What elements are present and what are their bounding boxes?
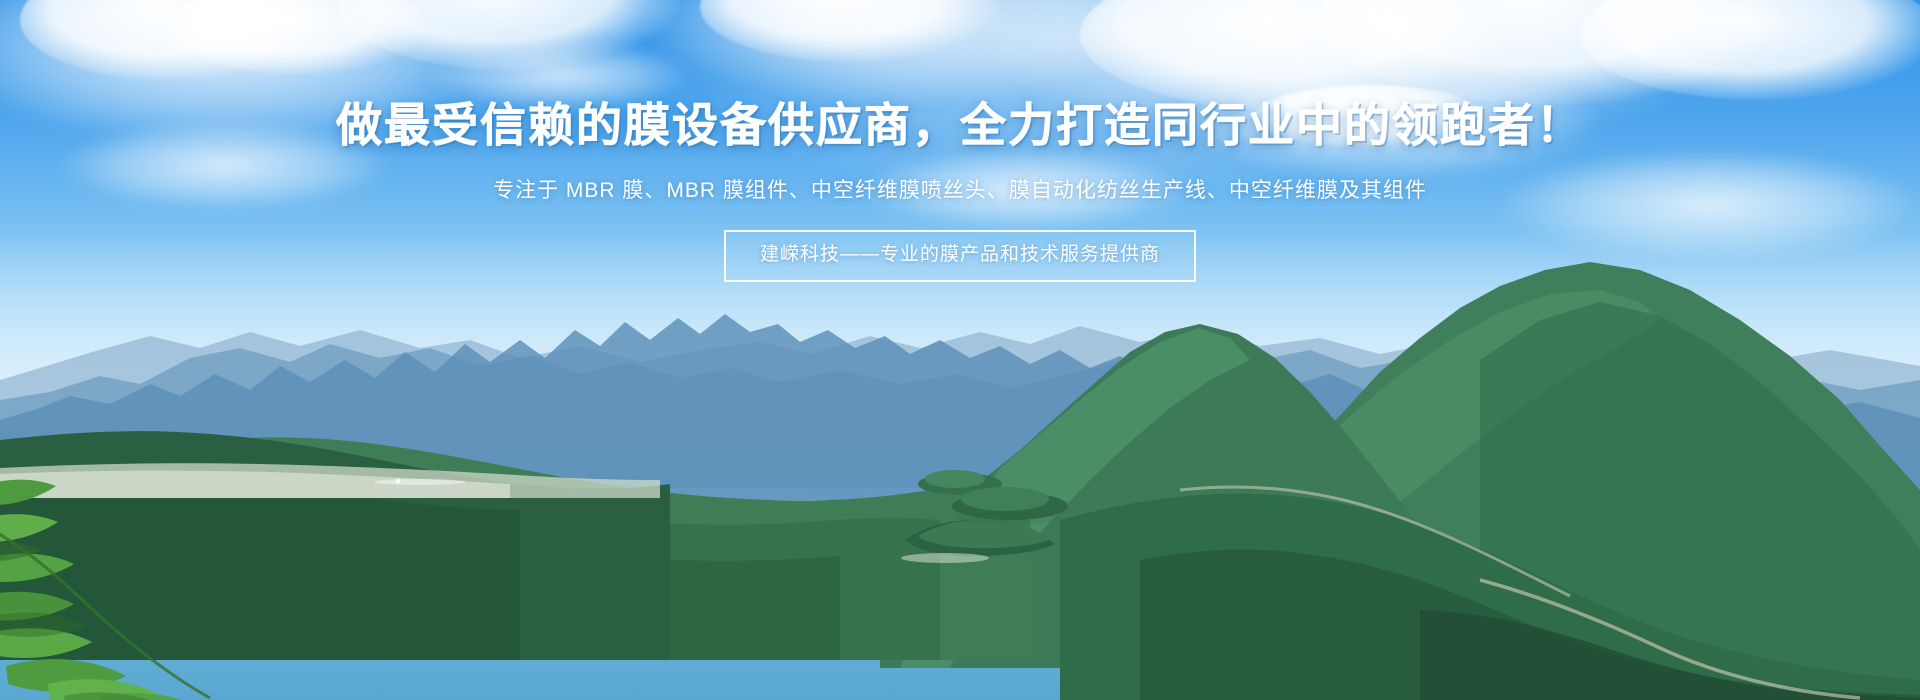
banner-subtitle: 专注于 MBR 膜、MBR 膜组件、中空纤维膜喷丝头、膜自动化纺丝生产线、中空纤… [0,151,1920,205]
lake-water [0,425,1920,700]
tagline-container: 建嵘科技——专业的膜产品和技术服务提供商 [0,230,1920,282]
hero-banner: 做最受信赖的膜设备供应商，全力打造同行业中的领跑者！ 专注于 MBR 膜、MBR… [0,0,1920,700]
banner-tagline: 建嵘科技——专业的膜产品和技术服务提供商 [724,230,1196,282]
water-shimmer [0,425,1920,700]
banner-text-block: 做最受信赖的膜设备供应商，全力打造同行业中的领跑者！ 专注于 MBR 膜、MBR… [0,0,1920,282]
banner-headline: 做最受信赖的膜设备供应商，全力打造同行业中的领跑者！ [0,0,1920,151]
